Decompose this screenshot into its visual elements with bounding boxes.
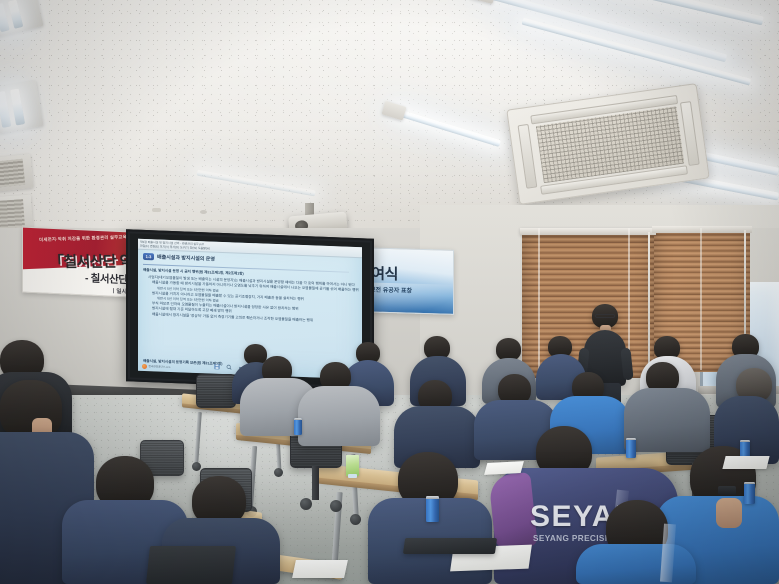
blind-headrail xyxy=(520,228,656,235)
laptop[interactable] xyxy=(146,546,236,584)
seminar-room-photo: 미세먼지·악취 저감을 위한 환경관리 실무교육 「칠서산단 악취개선 - 칠서… xyxy=(0,0,779,584)
chair-caster xyxy=(330,500,342,512)
ceiling-vent-grille xyxy=(0,154,34,192)
beverage-can[interactable] xyxy=(426,496,439,522)
mesh-office-chair[interactable] xyxy=(196,374,236,408)
attendee-head xyxy=(0,380,62,438)
attendee-neck xyxy=(716,498,742,528)
chair-caster xyxy=(300,498,312,510)
ac-vane xyxy=(518,124,538,189)
slide-organization-logo: 한국환경공단 K-eco xyxy=(142,364,170,370)
blind-cord[interactable] xyxy=(648,232,650,364)
paper-handout[interactable] xyxy=(484,461,524,475)
wristwatch xyxy=(718,486,736,495)
ceiling-light-fixture xyxy=(0,80,44,133)
attendee-torso xyxy=(298,386,380,446)
desk-caster xyxy=(274,468,283,477)
juice-carton[interactable] xyxy=(346,455,359,476)
smoke-detector xyxy=(200,210,207,214)
slide-number-badge: 1-3 xyxy=(143,253,154,260)
blind-headrail xyxy=(652,226,752,233)
attendee-torso xyxy=(624,388,710,452)
blind-cord[interactable] xyxy=(744,230,746,348)
blind-cord[interactable] xyxy=(538,228,540,378)
chair-post xyxy=(312,466,319,500)
logo-mark-icon xyxy=(142,364,147,369)
paper-handout[interactable] xyxy=(292,560,348,578)
beverage-can[interactable] xyxy=(744,482,755,504)
ceiling-speaker xyxy=(152,208,161,212)
eyeglasses-icon xyxy=(595,314,615,318)
paper-handout[interactable] xyxy=(722,456,769,469)
banner-line-2: - 칠서산단 xyxy=(85,270,128,287)
blind-cord[interactable] xyxy=(700,228,702,370)
beverage-can[interactable] xyxy=(294,418,302,435)
attendee-torso xyxy=(576,544,696,584)
laptop[interactable] xyxy=(403,538,497,554)
desk-caster xyxy=(350,514,361,525)
save-icon[interactable] xyxy=(214,364,220,370)
logo-caption: 한국환경공단 K-eco xyxy=(149,365,171,369)
slide-title: 배출시설과 방지시설의 운영 xyxy=(157,253,215,262)
beverage-can[interactable] xyxy=(626,438,636,458)
carton-straw xyxy=(348,474,357,478)
search-icon[interactable] xyxy=(226,364,232,370)
